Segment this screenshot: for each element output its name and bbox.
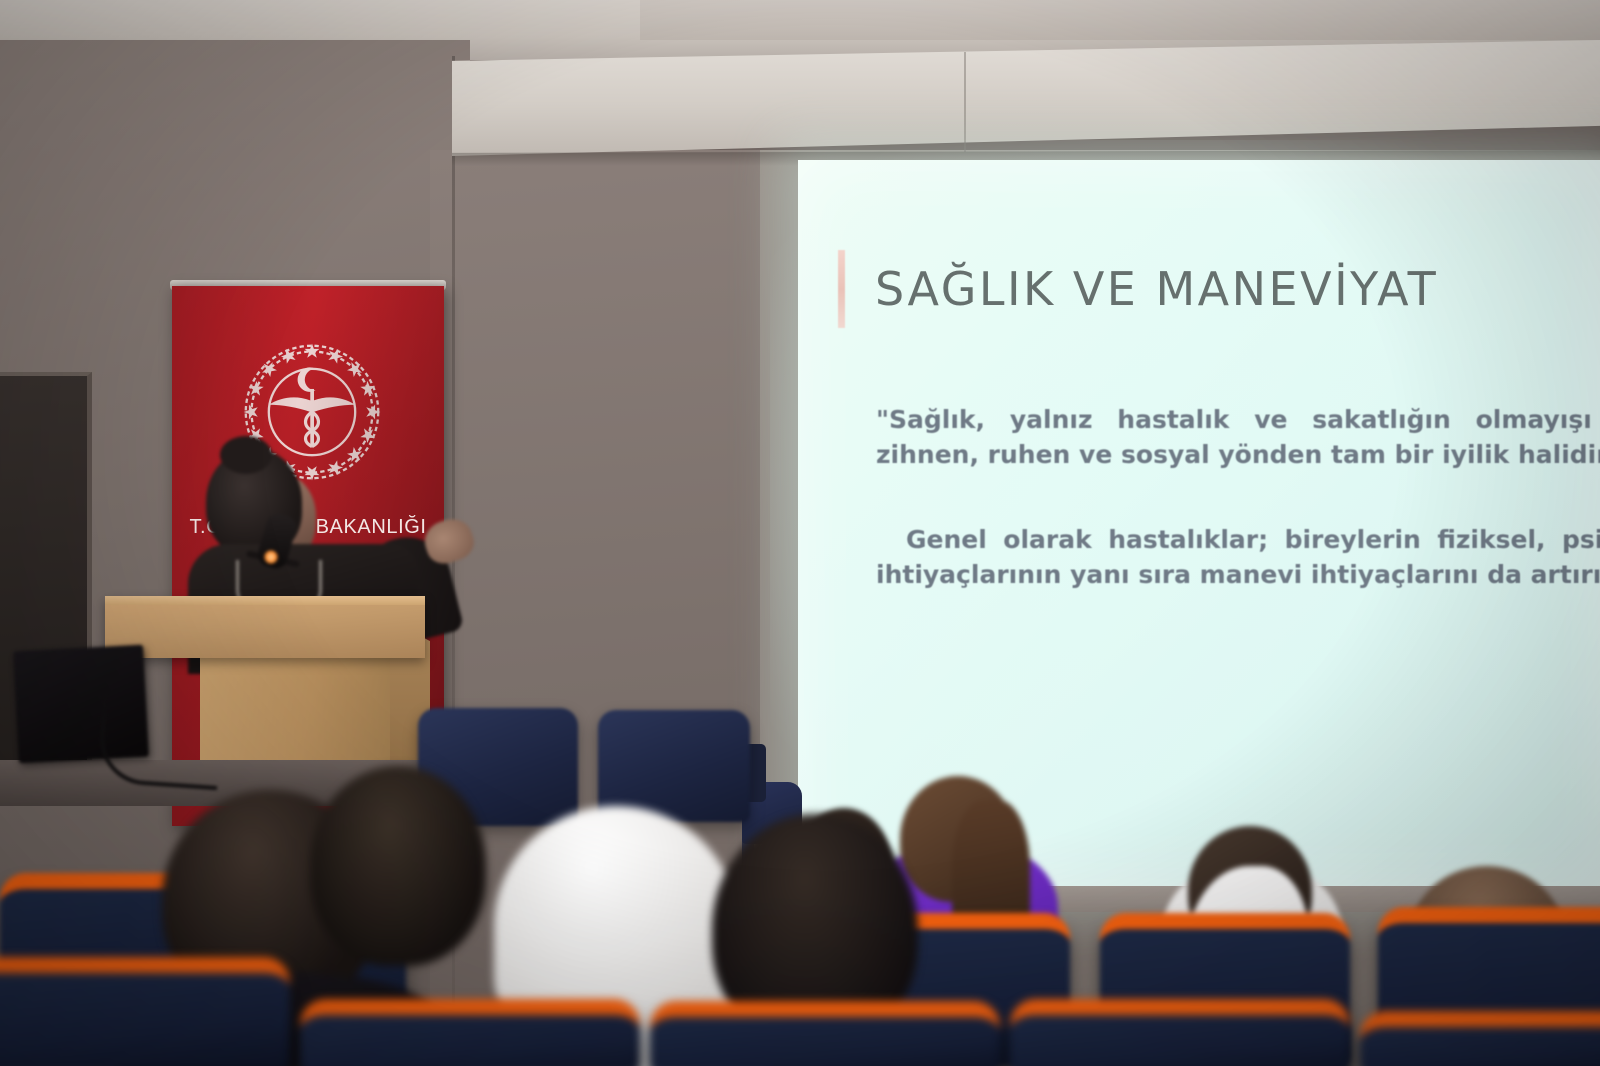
audience-chair — [650, 1006, 1000, 1066]
audience-chair — [300, 1004, 640, 1066]
speaker-hair-bun — [220, 436, 272, 474]
podium-desk — [105, 596, 425, 658]
soffit-panel-seam — [964, 52, 966, 152]
podium-desk-edge — [105, 596, 425, 605]
photo-scene: SAĞLIK VE MANEVİYAT "Sağlık, yalnız hast… — [0, 0, 1600, 1066]
slide-paragraph-2: Genel olarak hastalıklar; bireylerin fiz… — [876, 523, 1600, 592]
slide-accent-bar — [838, 250, 845, 328]
slide-paragraph-1: "Sağlık, yalnız hastalık ve sakatlığın o… — [876, 403, 1600, 472]
attendee-head — [310, 766, 486, 966]
slide-heading: SAĞLIK VE MANEVİYAT — [875, 262, 1438, 316]
presentation-slide: SAĞLIK VE MANEVİYAT "Sağlık, yalnız hast… — [798, 160, 1600, 890]
audience-chair — [1360, 1016, 1600, 1066]
ceiling-right-section — [640, 0, 1600, 40]
microphone-indicator-light — [264, 550, 278, 564]
slide-title-row: SAĞLIK VE MANEVİYAT — [838, 250, 1438, 328]
audience-chair — [1010, 1004, 1350, 1066]
audience-chair — [0, 962, 290, 1066]
